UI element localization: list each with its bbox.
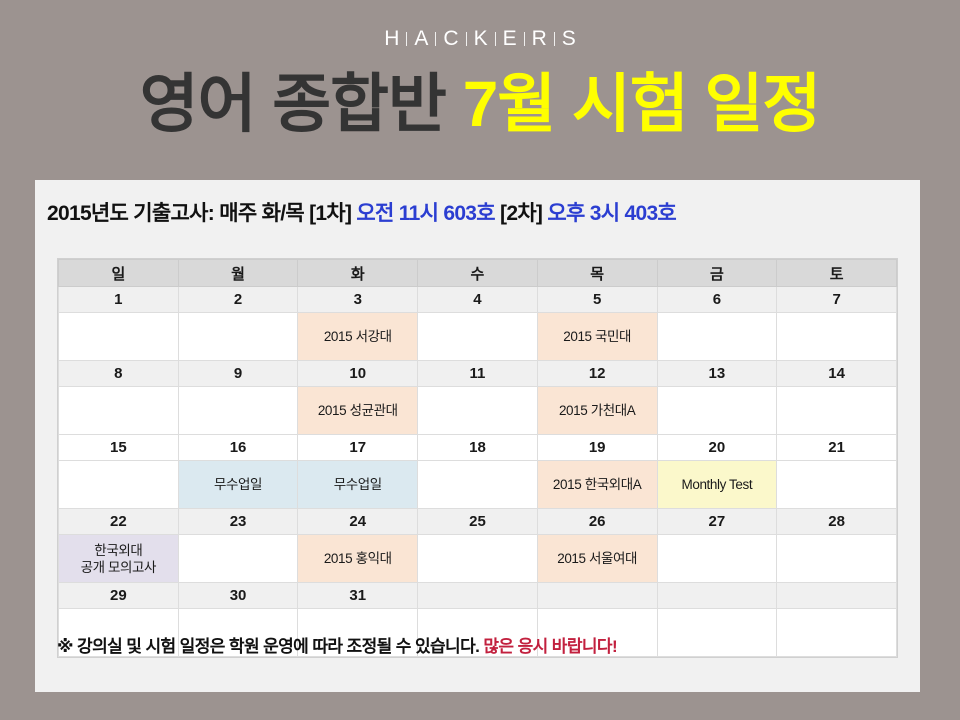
event-cell-empty	[178, 387, 298, 435]
event-cell-empty	[657, 387, 777, 435]
day-cell-14[interactable]: 14	[777, 361, 897, 387]
day-cell-6[interactable]: 6	[657, 287, 777, 313]
exam-info-session1: 오전 11시 603호	[356, 202, 495, 225]
event-cell[interactable]: 2015 한국외대A	[537, 461, 657, 509]
day-cell-27[interactable]: 27	[657, 509, 777, 535]
event-cell-empty	[178, 535, 298, 583]
event-cell[interactable]: 무수업일	[298, 461, 418, 509]
event-cell-empty	[59, 387, 179, 435]
event-cell-empty	[657, 313, 777, 361]
day-cell-18[interactable]: 18	[418, 435, 538, 461]
exam-info-prefix: 2015년도 기출고사: 매주 화/목 [1차]	[47, 202, 356, 225]
event-cell[interactable]: 2015 가천대A	[537, 387, 657, 435]
day-cell-1[interactable]: 1	[59, 287, 179, 313]
page-title: 영어 종합반 7월 시험 일정	[0, 62, 960, 146]
day-cell-20[interactable]: 20	[657, 435, 777, 461]
event-cell-empty	[418, 387, 538, 435]
schedule-panel: 2015년도 기출고사: 매주 화/목 [1차] 오전 11시 603호 [2차…	[35, 180, 920, 692]
day-cell-empty	[777, 583, 897, 609]
day-cell-4[interactable]: 4	[418, 287, 538, 313]
weekday-header-일: 일	[59, 260, 179, 287]
footnote-callout: 많은 응시 바랍니다!	[483, 637, 617, 656]
event-cell-empty	[178, 313, 298, 361]
event-cell[interactable]: 2015 성균관대	[298, 387, 418, 435]
day-cell-2[interactable]: 2	[178, 287, 298, 313]
calendar-day-number-row: 1234567	[59, 287, 897, 313]
brand-letter: H	[377, 24, 406, 54]
calendar-table: 일월화수목금토 12345672015 서강대2015 국민대891011121…	[58, 259, 897, 657]
event-cell[interactable]: 2015 국민대	[537, 313, 657, 361]
weekday-header-월: 월	[178, 260, 298, 287]
event-cell-empty	[418, 535, 538, 583]
calendar-container: 일월화수목금토 12345672015 서강대2015 국민대891011121…	[57, 258, 898, 658]
calendar-event-row: 2015 성균관대2015 가천대A	[59, 387, 897, 435]
day-cell-11[interactable]: 11	[418, 361, 538, 387]
day-cell-21[interactable]: 21	[777, 435, 897, 461]
calendar-day-number-row: 22232425262728	[59, 509, 897, 535]
day-cell-5[interactable]: 5	[537, 287, 657, 313]
event-cell[interactable]: 한국외대공개 모의고사	[59, 535, 179, 583]
day-cell-28[interactable]: 28	[777, 509, 897, 535]
calendar-day-number-row: 293031	[59, 583, 897, 609]
day-cell-29[interactable]: 29	[59, 583, 179, 609]
event-cell-empty	[777, 461, 897, 509]
day-cell-30[interactable]: 30	[178, 583, 298, 609]
calendar-event-row: 한국외대공개 모의고사2015 홍익대2015 서울여대	[59, 535, 897, 583]
day-cell-22[interactable]: 22	[59, 509, 179, 535]
brand-letter: C	[436, 24, 465, 54]
event-cell-empty	[59, 461, 179, 509]
weekday-header-수: 수	[418, 260, 538, 287]
weekday-header-row: 일월화수목금토	[59, 260, 897, 287]
exam-info-session2: 오후 3시 403호	[547, 202, 676, 225]
weekday-header-금: 금	[657, 260, 777, 287]
day-cell-12[interactable]: 12	[537, 361, 657, 387]
page-title-subject: 영어 종합반	[140, 68, 463, 140]
footnote: ※ 강의실 및 시험 일정은 학원 운영에 따라 조정될 수 있습니다. 많은 …	[57, 632, 907, 657]
event-cell-empty	[777, 387, 897, 435]
calendar-body: 12345672015 서강대2015 국민대8910111213142015 …	[59, 287, 897, 657]
day-cell-17[interactable]: 17	[298, 435, 418, 461]
brand-letter: E	[496, 24, 524, 54]
brand-logo: HACKERS	[0, 24, 960, 54]
event-cell[interactable]: Monthly Test	[657, 461, 777, 509]
day-cell-empty	[657, 583, 777, 609]
weekday-header-화: 화	[298, 260, 418, 287]
calendar-day-number-row: 15161718192021	[59, 435, 897, 461]
day-cell-25[interactable]: 25	[418, 509, 538, 535]
day-cell-23[interactable]: 23	[178, 509, 298, 535]
brand-letter: K	[467, 24, 495, 54]
event-cell-empty	[59, 313, 179, 361]
day-cell-9[interactable]: 9	[178, 361, 298, 387]
page-title-highlight: 7월 시험 일정	[463, 68, 821, 140]
event-cell-empty	[777, 313, 897, 361]
event-cell[interactable]: 무수업일	[178, 461, 298, 509]
brand-logo-letters: HACKERS	[377, 24, 583, 54]
event-cell[interactable]: 2015 홍익대	[298, 535, 418, 583]
day-cell-19[interactable]: 19	[537, 435, 657, 461]
calendar-day-number-row: 891011121314	[59, 361, 897, 387]
calendar-header: 일월화수목금토	[59, 260, 897, 287]
brand-letter: R	[525, 24, 554, 54]
day-cell-3[interactable]: 3	[298, 287, 418, 313]
event-cell[interactable]: 2015 서강대	[298, 313, 418, 361]
day-cell-7[interactable]: 7	[777, 287, 897, 313]
event-cell-empty	[657, 535, 777, 583]
brand-letter: S	[555, 24, 583, 54]
event-cell-empty	[418, 313, 538, 361]
day-cell-10[interactable]: 10	[298, 361, 418, 387]
day-cell-empty	[418, 583, 538, 609]
event-cell[interactable]: 2015 서울여대	[537, 535, 657, 583]
day-cell-31[interactable]: 31	[298, 583, 418, 609]
brand-letter: A	[407, 24, 435, 54]
day-cell-8[interactable]: 8	[59, 361, 179, 387]
day-cell-26[interactable]: 26	[537, 509, 657, 535]
event-cell-empty	[418, 461, 538, 509]
day-cell-13[interactable]: 13	[657, 361, 777, 387]
day-cell-16[interactable]: 16	[178, 435, 298, 461]
calendar-event-row: 2015 서강대2015 국민대	[59, 313, 897, 361]
weekday-header-토: 토	[777, 260, 897, 287]
exam-info-session2-label: [2차]	[495, 202, 547, 225]
day-cell-24[interactable]: 24	[298, 509, 418, 535]
weekday-header-목: 목	[537, 260, 657, 287]
day-cell-empty	[537, 583, 657, 609]
event-cell-empty	[777, 535, 897, 583]
footnote-notice: ※ 강의실 및 시험 일정은 학원 운영에 따라 조정될 수 있습니다.	[57, 637, 483, 656]
day-cell-15[interactable]: 15	[59, 435, 179, 461]
exam-info-line: 2015년도 기출고사: 매주 화/목 [1차] 오전 11시 603호 [2차…	[47, 197, 909, 227]
calendar-event-row: 무수업일무수업일2015 한국외대AMonthly Test	[59, 461, 897, 509]
